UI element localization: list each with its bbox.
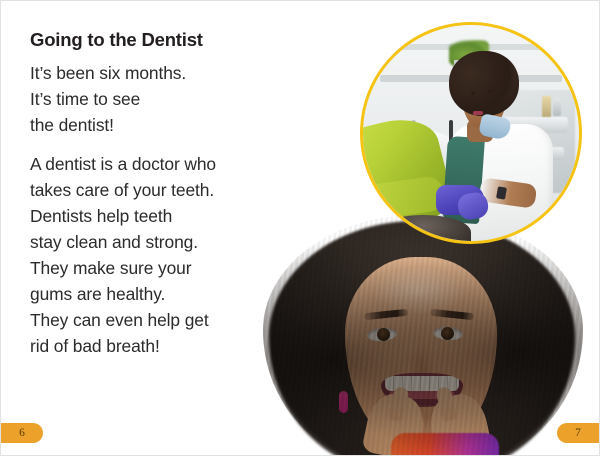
- paragraph-1-line-3: the dentist!: [30, 112, 292, 138]
- book-page-spread: Going to the Dentist It’s been six month…: [0, 0, 600, 456]
- paragraph-2-line-4: stay clean and strong.: [30, 229, 292, 255]
- dentist-photo-inner: [363, 25, 579, 241]
- article-text-column: Going to the Dentist It’s been six month…: [30, 29, 292, 371]
- page-number-left: 6: [0, 423, 43, 443]
- paragraph-2: A dentist is a doctor who takes care of …: [30, 151, 292, 360]
- paragraph-2-line-7: They can even help get: [30, 307, 292, 333]
- paragraph-1-line-1: It’s been six months.: [30, 60, 292, 86]
- paragraph-2-line-2: takes care of your teeth.: [30, 177, 292, 203]
- paragraph-1-line-2: It’s time to see: [30, 86, 292, 112]
- dentist-eye-left: [471, 92, 475, 95]
- dentist-smile: [473, 111, 483, 115]
- page-number-right: 7: [557, 423, 600, 443]
- page-title: Going to the Dentist: [30, 29, 292, 50]
- girl-photo: [263, 215, 583, 456]
- equipment-knob-2: [553, 98, 561, 116]
- girl-hair-strands: [263, 215, 583, 456]
- paragraph-2-line-5: They make sure your: [30, 255, 292, 281]
- paragraph-2-line-1: A dentist is a doctor who: [30, 151, 292, 177]
- wristwatch: [496, 186, 507, 199]
- patient-head: [376, 215, 471, 241]
- paragraph-1: It’s been six months. It’s time to see t…: [30, 60, 292, 138]
- dentist-hair: [449, 51, 518, 116]
- dentist-photo-circle: [360, 22, 582, 244]
- paragraph-2-line-6: gums are healthy.: [30, 281, 292, 307]
- paragraph-2-line-8: rid of bad breath!: [30, 333, 292, 359]
- equipment-knob-1: [542, 96, 551, 118]
- paragraph-2-line-3: Dentists help teeth: [30, 203, 292, 229]
